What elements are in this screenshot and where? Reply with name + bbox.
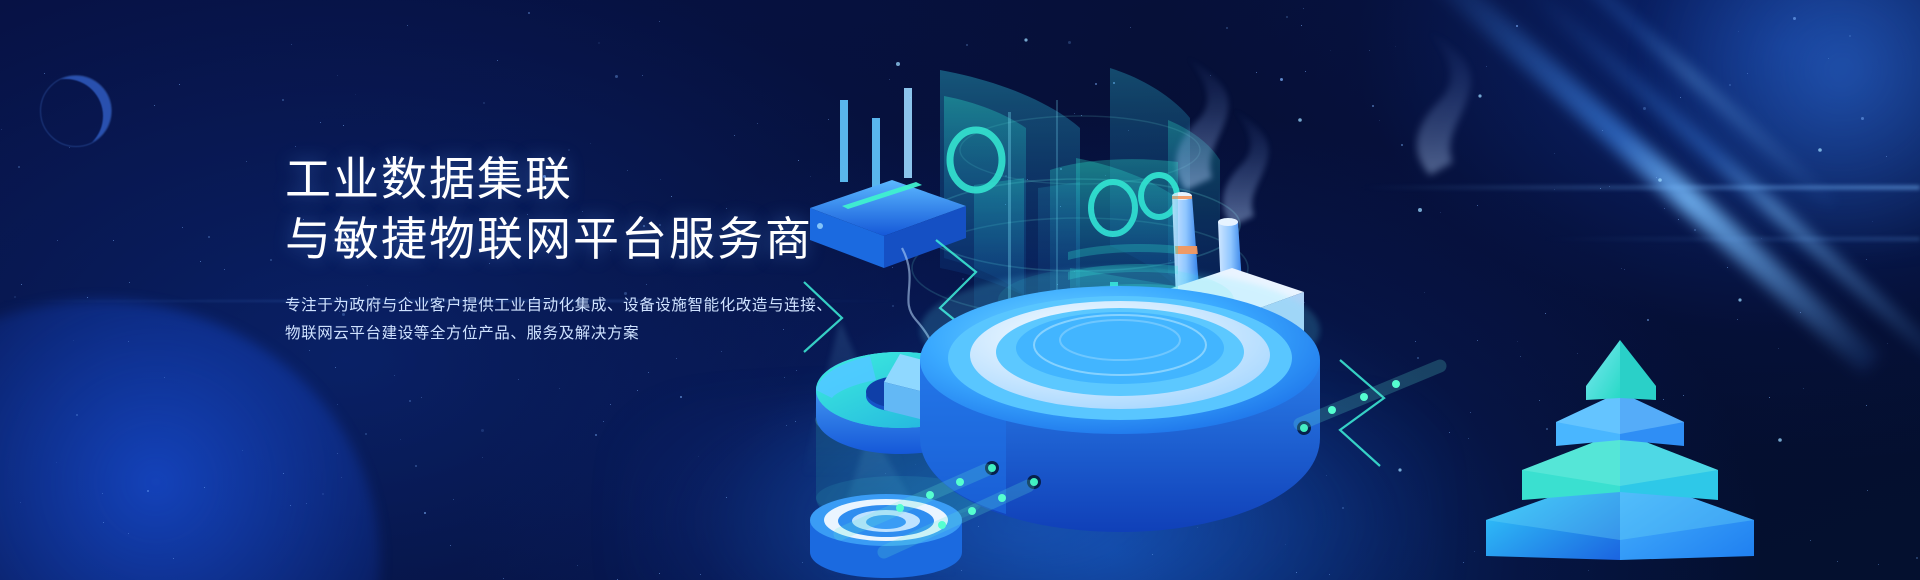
layered-pyramid xyxy=(1480,340,1760,572)
glowing-ring-disk xyxy=(810,494,962,578)
hero-banner: 工业数据集联 与敏捷物联网平台服务商 专注于为政府与企业客户提供工业自动化集成、… xyxy=(0,0,1920,580)
hero-illustration xyxy=(780,0,1920,580)
crescent-moon-icon xyxy=(40,75,112,147)
